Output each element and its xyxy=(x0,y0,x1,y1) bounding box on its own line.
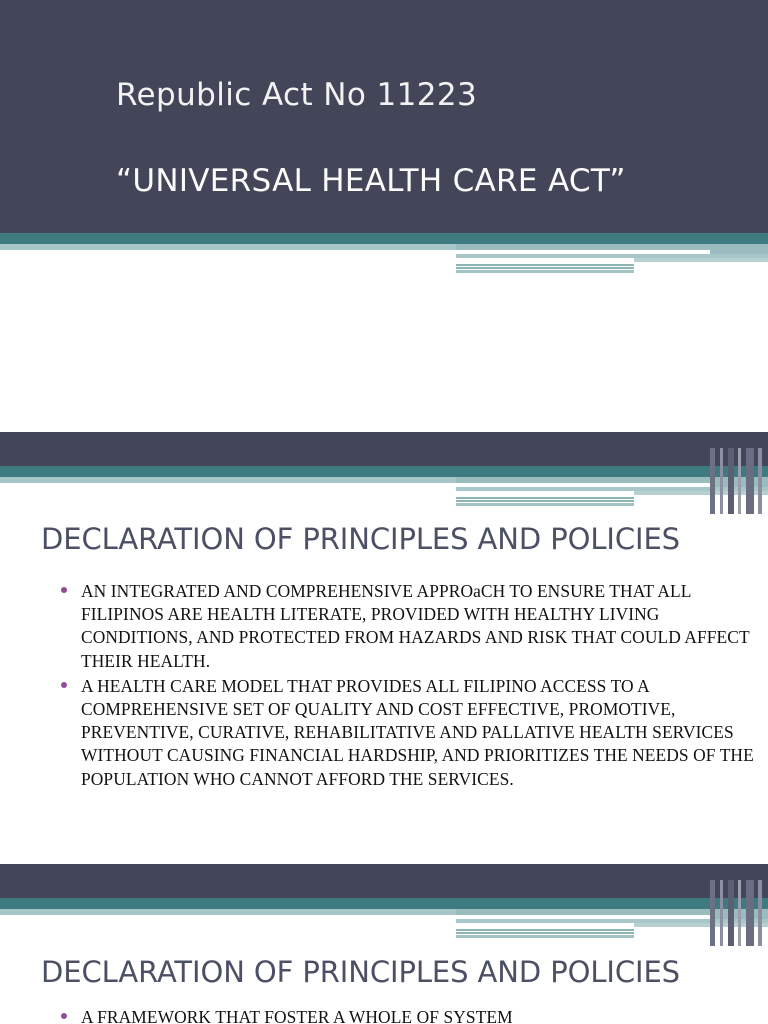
title-panel: Republic Act No 11223 “UNIVERSAL HEALTH … xyxy=(0,0,768,233)
band-hairline-c xyxy=(456,503,634,506)
band-teal-bar xyxy=(0,898,768,909)
band-hairline-b xyxy=(456,500,634,502)
slide-title: Republic Act No 11223 “UNIVERSAL HEALTH … xyxy=(0,0,768,432)
band-hairline-a xyxy=(456,497,634,499)
band-hairline-c xyxy=(456,270,634,273)
band-hairline-b xyxy=(456,932,634,934)
band-hairline-b xyxy=(456,267,634,269)
vstripe xyxy=(738,448,741,514)
slide3-heading: DECLARATION OF PRINCIPLES AND POLICIES xyxy=(41,955,680,989)
band-teal-bar xyxy=(0,233,768,244)
bullet-item: A FRAMEWORK THAT FOSTER A WHOLE OF SYSTE… xyxy=(58,1006,758,1024)
band-vertical-stripes xyxy=(696,880,768,946)
band-vertical-stripes xyxy=(696,215,768,281)
band-vertical-stripes xyxy=(696,448,768,514)
vstripe xyxy=(758,448,762,514)
title-line-2: “UNIVERSAL HEALTH CARE ACT” xyxy=(116,163,626,199)
vstripe xyxy=(738,880,741,946)
vstripe xyxy=(720,880,723,946)
decorative-band-1 xyxy=(0,233,768,281)
slide3-bullet-list: A FRAMEWORK THAT FOSTER A WHOLE OF SYSTE… xyxy=(58,1006,758,1024)
vstripe xyxy=(728,448,734,514)
band-hairline-a xyxy=(456,264,634,266)
band-light-left xyxy=(0,244,456,250)
vstripe xyxy=(720,448,723,514)
bullet-text: A HEALTH CARE MODEL THAT PROVIDES ALL FI… xyxy=(81,676,754,789)
vstripe xyxy=(746,448,754,514)
band-teal-bar xyxy=(0,466,768,477)
slide2-heading: DECLARATION OF PRINCIPLES AND POLICIES xyxy=(41,522,680,556)
decorative-band-2 xyxy=(0,466,768,514)
band-white-stripe-2 xyxy=(456,491,634,495)
vstripe xyxy=(746,880,754,946)
slide2-bullet-list: AN INTEGRATED AND COMPREHENSIVE APPROaCH… xyxy=(58,580,758,793)
slide-declaration-1: DECLARATION OF PRINCIPLES AND POLICIES A… xyxy=(0,432,768,864)
bullet-item: A HEALTH CARE MODEL THAT PROVIDES ALL FI… xyxy=(58,675,758,791)
vstripe xyxy=(710,880,715,946)
bullet-dot-icon xyxy=(61,587,67,593)
slide-declaration-2: DECLARATION OF PRINCIPLES AND POLICIES A… xyxy=(0,864,768,1024)
band-hairline-c xyxy=(456,935,634,938)
title-line-1: Republic Act No 11223 xyxy=(116,77,477,113)
slide2-dark-strip xyxy=(0,432,768,466)
band-light-left xyxy=(0,477,456,483)
band-light-left xyxy=(0,909,456,915)
vstripe xyxy=(728,880,734,946)
bullet-dot-icon xyxy=(61,682,67,688)
slide-deck-page: Republic Act No 11223 “UNIVERSAL HEALTH … xyxy=(0,0,768,1024)
bullet-text: A FRAMEWORK THAT FOSTER A WHOLE OF SYSTE… xyxy=(81,1007,513,1024)
band-white-stripe-2 xyxy=(456,923,634,927)
decorative-band-3 xyxy=(0,898,768,946)
vstripe xyxy=(758,880,762,946)
band-white-stripe-2 xyxy=(456,258,634,262)
bullet-text: AN INTEGRATED AND COMPREHENSIVE APPROaCH… xyxy=(81,581,749,671)
bullet-item: AN INTEGRATED AND COMPREHENSIVE APPROaCH… xyxy=(58,580,758,673)
vstripe xyxy=(710,448,715,514)
bullet-dot-icon xyxy=(61,1013,67,1019)
slide3-dark-strip xyxy=(0,864,768,898)
band-hairline-a xyxy=(456,929,634,931)
